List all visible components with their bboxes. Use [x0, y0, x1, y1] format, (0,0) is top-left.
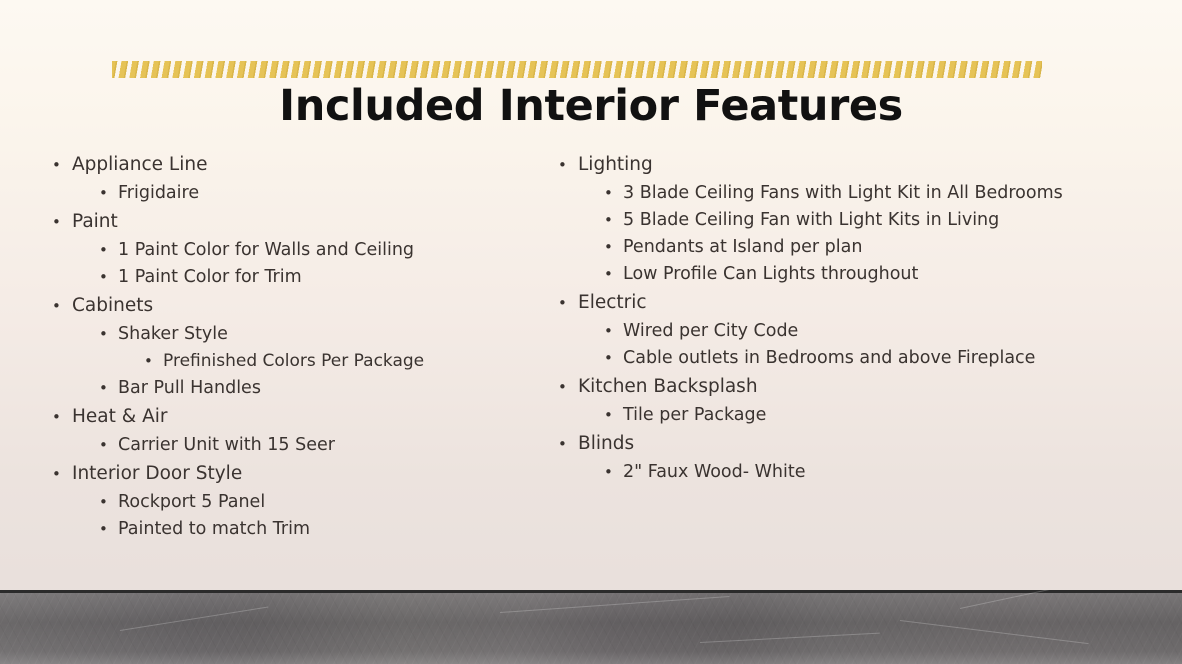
bullet-item-l2: •Tile per Package — [545, 402, 1105, 429]
bullet-item-l2: •Wired per City Code — [545, 318, 1105, 345]
bullet-item-l1: •Kitchen Backsplash — [545, 372, 1105, 402]
bullet-dot-icon: • — [604, 402, 613, 429]
bullet-text: Wired per City Code — [623, 318, 1105, 345]
bullet-item-l2: •Cable outlets in Bedrooms and above Fir… — [545, 345, 1105, 372]
bullet-text: Paint — [72, 207, 540, 237]
bullet-dot-icon: • — [558, 372, 567, 402]
content-columns: •Appliance Line•Frigidaire•Paint•1 Paint… — [0, 150, 1182, 580]
bullet-text: Low Profile Can Lights throughout — [623, 261, 1105, 288]
bullet-text: Interior Door Style — [72, 459, 540, 489]
bullet-text: Cable outlets in Bedrooms and above Fire… — [623, 345, 1105, 372]
bullet-item-l1: •Interior Door Style — [40, 459, 540, 489]
bullet-item-l1: •Electric — [545, 288, 1105, 318]
bullet-dot-icon: • — [99, 237, 108, 264]
bullet-text: Prefinished Colors Per Package — [163, 348, 540, 375]
bullet-dot-icon: • — [558, 288, 567, 318]
bullet-dot-icon: • — [52, 150, 61, 180]
bullet-text: 2" Faux Wood- White — [623, 459, 1105, 486]
bullet-dot-icon: • — [99, 375, 108, 402]
bullet-text: Painted to match Trim — [118, 516, 540, 543]
bullet-text: Bar Pull Handles — [118, 375, 540, 402]
bullet-text: Electric — [578, 288, 1105, 318]
bullet-dot-icon: • — [99, 264, 108, 291]
bullet-dot-icon: • — [604, 345, 613, 372]
bullet-dot-icon: • — [604, 234, 613, 261]
bullet-dot-icon: • — [52, 402, 61, 432]
bullet-dot-icon: • — [99, 516, 108, 543]
bullet-item-l2: •1 Paint Color for Trim — [40, 264, 540, 291]
bullet-text: Appliance Line — [72, 150, 540, 180]
stone-texture — [0, 593, 1182, 664]
stone-photo-band — [0, 590, 1182, 664]
bullet-dot-icon: • — [144, 348, 153, 375]
bullet-dot-icon: • — [604, 207, 613, 234]
bullet-text: Blinds — [578, 429, 1105, 459]
bullet-text: Kitchen Backsplash — [578, 372, 1105, 402]
bullet-item-l3: •Prefinished Colors Per Package — [40, 348, 540, 375]
bullet-dot-icon: • — [558, 150, 567, 180]
bullet-item-l1: •Lighting — [545, 150, 1105, 180]
bullet-dot-icon: • — [604, 318, 613, 345]
bullet-dot-icon: • — [52, 459, 61, 489]
bullet-item-l1: •Heat & Air — [40, 402, 540, 432]
left-bullet-list: •Appliance Line•Frigidaire•Paint•1 Paint… — [40, 150, 540, 543]
bullet-text: Carrier Unit with 15 Seer — [118, 432, 540, 459]
page-title: Included Interior Features — [0, 80, 1182, 132]
bullet-item-l2: •Painted to match Trim — [40, 516, 540, 543]
bullet-item-l2: •5 Blade Ceiling Fan with Light Kits in … — [545, 207, 1105, 234]
bullet-item-l1: •Cabinets — [40, 291, 540, 321]
left-column: •Appliance Line•Frigidaire•Paint•1 Paint… — [40, 150, 540, 543]
bullet-dot-icon: • — [558, 429, 567, 459]
bullet-text: Frigidaire — [118, 180, 540, 207]
bullet-item-l2: •Pendants at Island per plan — [545, 234, 1105, 261]
bullet-dot-icon: • — [99, 180, 108, 207]
bullet-text: Shaker Style — [118, 321, 540, 348]
bullet-text: Tile per Package — [623, 402, 1105, 429]
bullet-dot-icon: • — [99, 321, 108, 348]
right-bullet-list: •Lighting•3 Blade Ceiling Fans with Ligh… — [545, 150, 1105, 486]
bullet-text: 1 Paint Color for Walls and Ceiling — [118, 237, 540, 264]
gold-hatched-divider — [112, 61, 1042, 78]
hatch-stripes — [112, 61, 1042, 78]
bullet-dot-icon: • — [99, 432, 108, 459]
bullet-item-l1: •Paint — [40, 207, 540, 237]
bullet-text: Lighting — [578, 150, 1105, 180]
bullet-text: Pendants at Island per plan — [623, 234, 1105, 261]
bullet-item-l2: •Shaker Style — [40, 321, 540, 348]
bullet-dot-icon: • — [604, 261, 613, 288]
bullet-item-l2: •Frigidaire — [40, 180, 540, 207]
bullet-item-l2: •Rockport 5 Panel — [40, 489, 540, 516]
bullet-text: Heat & Air — [72, 402, 540, 432]
bullet-item-l2: •1 Paint Color for Walls and Ceiling — [40, 237, 540, 264]
bullet-item-l2: •Carrier Unit with 15 Seer — [40, 432, 540, 459]
bullet-dot-icon: • — [604, 459, 613, 486]
bullet-text: 5 Blade Ceiling Fan with Light Kits in L… — [623, 207, 1105, 234]
bullet-dot-icon: • — [52, 207, 61, 237]
bullet-item-l2: •2" Faux Wood- White — [545, 459, 1105, 486]
bullet-dot-icon: • — [99, 489, 108, 516]
bullet-text: Rockport 5 Panel — [118, 489, 540, 516]
bullet-text: Cabinets — [72, 291, 540, 321]
bullet-text: 1 Paint Color for Trim — [118, 264, 540, 291]
bullet-item-l2: •3 Blade Ceiling Fans with Light Kit in … — [545, 180, 1105, 207]
bullet-dot-icon: • — [604, 180, 613, 207]
bullet-item-l2: •Bar Pull Handles — [40, 375, 540, 402]
bullet-dot-icon: • — [52, 291, 61, 321]
bullet-item-l1: •Blinds — [545, 429, 1105, 459]
bullet-item-l2: •Low Profile Can Lights throughout — [545, 261, 1105, 288]
bullet-item-l1: •Appliance Line — [40, 150, 540, 180]
slide: Included Interior Features •Appliance Li… — [0, 0, 1182, 664]
right-column: •Lighting•3 Blade Ceiling Fans with Ligh… — [545, 150, 1105, 486]
bullet-text: 3 Blade Ceiling Fans with Light Kit in A… — [623, 180, 1105, 207]
